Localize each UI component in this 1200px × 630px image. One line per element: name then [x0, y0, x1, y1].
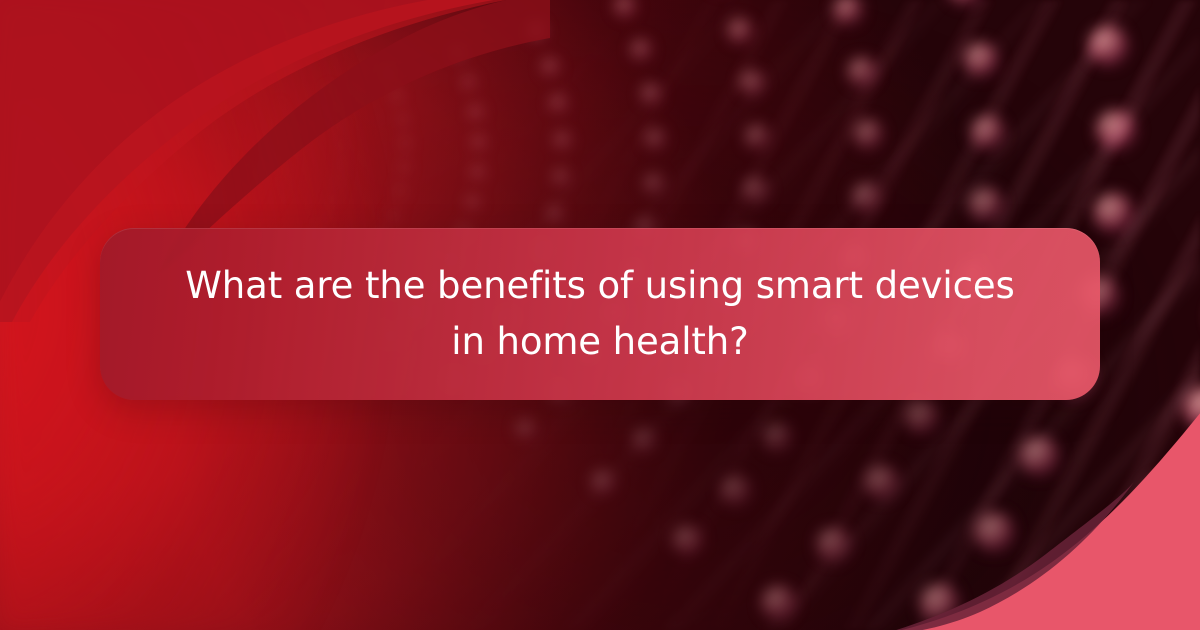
question-line-1: What are the benefits of using smart dev… [185, 264, 1014, 307]
question-line-2: in home health? [451, 320, 748, 363]
question-text: What are the benefits of using smart dev… [140, 258, 1060, 370]
question-card: What are the benefits of using smart dev… [100, 228, 1100, 400]
poster-canvas: What are the benefits of using smart dev… [0, 0, 1200, 630]
